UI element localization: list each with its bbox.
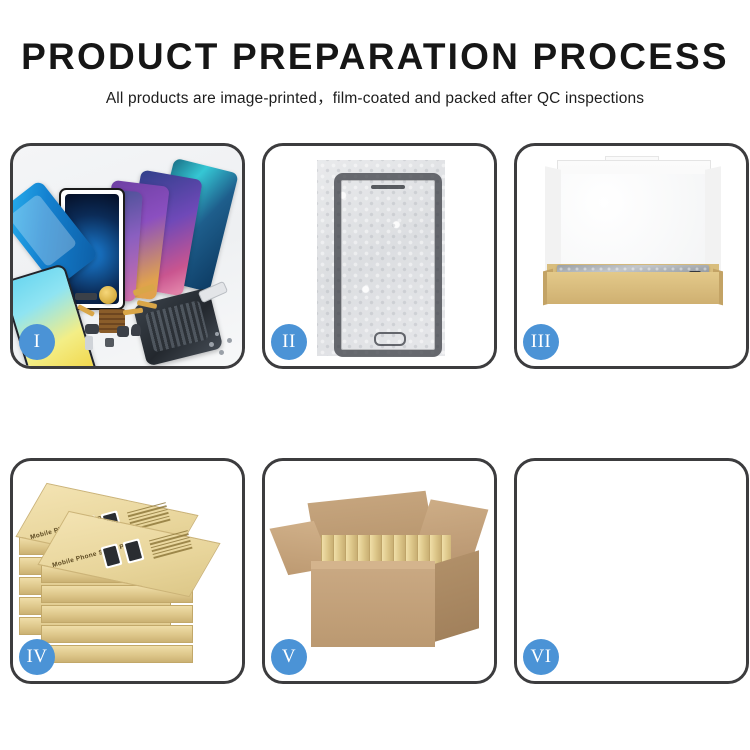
speaker-coil-part xyxy=(99,286,117,304)
step-panel-6: VI xyxy=(514,458,749,684)
screw-part-4 xyxy=(215,332,219,336)
chip-part-2 xyxy=(85,324,99,334)
step-badge-3: III xyxy=(523,324,559,360)
box-layer xyxy=(41,625,193,643)
step-badge-6: VI xyxy=(523,639,559,675)
chip-part-4 xyxy=(131,324,141,336)
screen-earpiece-slot xyxy=(371,185,405,189)
page-subtitle: All products are image-printed，film-coat… xyxy=(0,89,750,109)
step-badge-5: V xyxy=(271,639,307,675)
header: PRODUCT PREPARATION PROCESS All products… xyxy=(0,0,750,109)
bubble-wrap-sheet xyxy=(317,160,445,356)
step-panel-5: V xyxy=(262,458,497,684)
step-badge-2: II xyxy=(271,324,307,360)
step-badge-4: IV xyxy=(19,639,55,675)
carton-front-face xyxy=(311,569,435,647)
step-panel-3: III xyxy=(514,143,749,369)
screw-part-3 xyxy=(227,338,232,343)
box-layer xyxy=(41,645,193,663)
box-lid-left-flap xyxy=(545,166,561,273)
sim-tray-part xyxy=(85,336,93,350)
step-panel-2: II xyxy=(262,143,497,369)
screw-part-2 xyxy=(219,350,224,355)
box-layer xyxy=(41,605,193,623)
product-preparation-infographic: PRODUCT PREPARATION PROCESS All products… xyxy=(0,0,750,750)
carton-right-side xyxy=(435,550,479,641)
foam-padding xyxy=(561,174,705,270)
screw-part-1 xyxy=(209,342,214,347)
chip-part-1 xyxy=(75,293,97,300)
box-lid-right-flap xyxy=(705,166,721,273)
box-tray-front xyxy=(547,272,719,304)
chip-part-3 xyxy=(117,326,129,337)
chip-part-5 xyxy=(105,338,114,347)
page-title: PRODUCT PREPARATION PROCESS xyxy=(0,34,750,80)
process-step-grid: I II xyxy=(10,143,742,684)
step-panel-1: I xyxy=(10,143,245,369)
step-panel-4: Mobile Phone Spare Parts Mobile Phone S xyxy=(10,458,245,684)
screen-home-button xyxy=(374,332,406,346)
step-badge-1: I xyxy=(19,324,55,360)
wrapped-screen-outline xyxy=(334,173,442,357)
